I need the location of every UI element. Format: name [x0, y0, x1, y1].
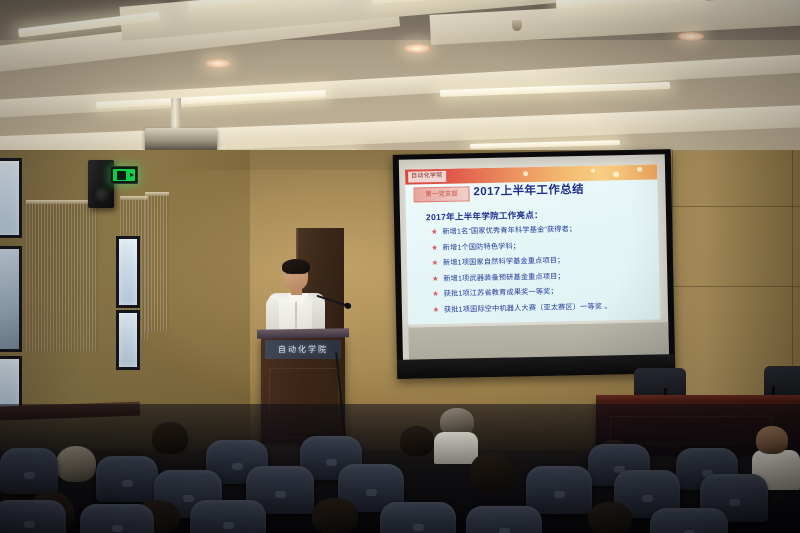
audience-head: [470, 452, 514, 492]
podium-nameplate-text: 自动化学院: [278, 344, 328, 355]
audience-area: [0, 404, 800, 533]
running-man-exit-icon: [113, 169, 135, 181]
star-bullet-icon: ★: [428, 304, 444, 313]
star-bullet-icon: ★: [427, 273, 443, 282]
slide-subtitle: 2017年上半年学院工作亮点：: [426, 209, 543, 223]
slide-bullet-item: ★ 获批1项国际空中机器人大赛（亚太赛区）一等奖 。: [428, 300, 656, 314]
sprinkler-head-icon: [512, 20, 522, 31]
star-bullet-icon: ★: [426, 227, 442, 236]
glasses-icon: [286, 273, 306, 278]
ceiling: [0, 0, 800, 172]
ceiling-soffit: [0, 51, 800, 119]
slide-bullet-text: 新增1项国家自然科学基金重点项目；: [443, 255, 565, 267]
podium-top-surface: [257, 328, 349, 339]
slide-title: 2017上半年工作总结: [473, 181, 653, 200]
banner-sparkle: [637, 167, 642, 172]
banner-sparkle: [613, 171, 619, 177]
slide-bullet-item: ★ 新增1名“国家优秀青年科学基金”获得者；: [426, 222, 654, 236]
slide-bullet-list: ★ 新增1名“国家优秀青年科学基金”获得者； ★ 新增1个国防特色学科； ★ 新…: [426, 222, 656, 320]
slide-logo: 第一党支部: [413, 186, 469, 202]
slide-logo-text: 第一党支部: [414, 187, 468, 201]
slide-bullet-item: ★ 获批1项江苏省教育成果奖一等奖；: [428, 284, 656, 298]
banner-sparkle: [523, 171, 528, 176]
audience-head: [400, 426, 434, 456]
acoustic-panel: [26, 203, 98, 351]
ceiling-downlight: [404, 44, 430, 53]
audience-head: [756, 426, 788, 454]
slide-bullet-text: 新增1名“国家优秀青年科学基金”获得者；: [442, 224, 576, 236]
presentation-slide: 自动化学院 第一党支部 2017上半年工作总结 2017年上半年学院工作亮点： …: [405, 164, 660, 324]
projection-screen: 自动化学院 第一党支部 2017上半年工作总结 2017年上半年学院工作亮点： …: [393, 149, 676, 379]
ceiling-downlight: [678, 32, 704, 41]
audience-head: [56, 446, 96, 482]
projector-mount-pole: [171, 98, 181, 131]
slide-bullet-text: 新增1个国防特色学科；: [443, 241, 521, 252]
audience-head: [152, 422, 188, 454]
star-bullet-icon: ★: [428, 289, 444, 298]
ceiling-downlight: [205, 59, 231, 68]
exit-sign: [110, 166, 138, 184]
lecture-hall-photo: 自动化学院 第一党支部 2017上半年工作总结 2017年上半年学院工作亮点： …: [0, 0, 800, 533]
ceiling-light-strip: [470, 140, 620, 149]
head-table-top: [596, 395, 800, 402]
auditorium-seat: [466, 506, 542, 533]
window-pane: [0, 158, 22, 238]
presenter-hair: [282, 259, 310, 274]
star-bullet-icon: ★: [427, 258, 443, 267]
window-pane-open: [0, 246, 22, 352]
auditorium-seat: [0, 448, 58, 494]
audience-head: [588, 502, 632, 533]
slide-bullet-text: 新增1项武器装备预研基金重点项目；: [443, 271, 565, 283]
slide-bullet-text: 获批1项国际空中机器人大赛（亚太赛区）一等奖 。: [444, 301, 612, 314]
auditorium-seat: [526, 466, 592, 514]
auditorium-seat: [190, 500, 266, 533]
window-pane: [116, 310, 140, 370]
slide-bullet-item: ★ 新增1项武器装备预研基金重点项目；: [427, 269, 655, 283]
auditorium-seat: [380, 502, 456, 533]
slide-bullet-text: 获批1项江苏省教育成果奖一等奖；: [444, 287, 558, 298]
wall-seam: [672, 286, 800, 287]
window-pane: [0, 356, 22, 410]
auditorium-seat: [96, 456, 158, 502]
slide-banner-label: 自动化学院: [408, 170, 446, 182]
ceiling-projector: [145, 128, 217, 151]
audience-shirt: [434, 432, 478, 464]
star-bullet-icon: ★: [427, 242, 443, 251]
acoustic-panel: [145, 195, 169, 331]
auditorium-seat: [650, 508, 728, 533]
slide-bullet-item: ★ 新增1项国家自然科学基金重点项目；: [427, 253, 655, 267]
auditorium-seat: [0, 500, 66, 533]
window-pane: [116, 236, 140, 308]
audience-head: [312, 498, 358, 533]
podium-nameplate: 自动化学院: [265, 340, 341, 359]
wall-seam: [672, 206, 800, 207]
auditorium-seat: [80, 504, 154, 533]
screen-surface: 自动化学院 第一党支部 2017上半年工作总结 2017年上半年学院工作亮点： …: [399, 154, 669, 373]
banner-sparkle: [591, 169, 595, 173]
slide-bullet-item: ★ 新增1个国防特色学科；: [427, 238, 655, 252]
